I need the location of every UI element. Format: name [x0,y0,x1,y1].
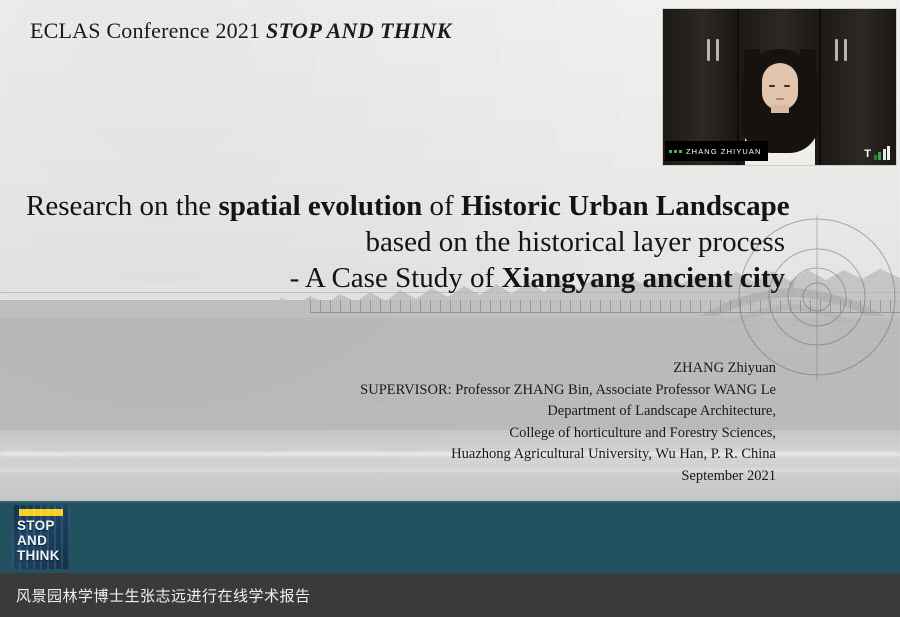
cabinet-handle-1 [707,39,710,61]
cabinet-gap-2 [819,9,821,165]
signal-bar-3 [883,149,886,160]
caption-bar: 风景园林学博士生张志远进行在线学术报告 [0,573,900,617]
audio-activity-dots-icon [669,150,682,153]
participant-name-text: ZHANG ZHIYUAN [686,147,762,156]
title-line-1-emphasis-2: Historic Urban Landscape [461,190,790,222]
cabinet-handle-4 [844,39,847,61]
cabinet-handle-3 [835,39,838,61]
logo-tile-text: STOP AND THINK [17,518,60,563]
caption-text: 风景园林学博士生张志远进行在线学术报告 [16,585,311,606]
presenter-eye-right [784,85,790,87]
author-name: ZHANG Zhiyuan [0,358,776,380]
cabinet-handle-2 [716,39,719,61]
banner-top-edge [0,501,900,503]
title-line-3-emphasis: Xiangyang ancient city [501,262,785,294]
title-line-1-c: of [422,190,461,222]
signal-letter: T [864,149,871,160]
conference-theme: STOP AND THINK [266,18,452,43]
title-line-3: - A Case Study of Xiangyang ancient city [0,260,785,296]
department-line: Department of Landscape Architecture, [0,401,776,423]
title-line-2: based on the historical layer process [0,224,785,260]
presenter-hair-front-left [744,49,760,111]
signal-bar-2 [878,152,881,160]
title-line-3-a: - A Case Study of [290,262,502,294]
participant-name-label: ZHANG ZHIYUAN [665,141,768,161]
cabinet-right [821,9,896,165]
presenter-eye-left [769,85,775,87]
signal-strength-icon: T [864,144,890,160]
slide-title: Research on the spatial evolution of His… [0,188,785,296]
presenter-hair-front-right [800,49,816,111]
slide-footer-banner: STOP AND THINK STOP AND THINK 2021 ECLAS… [0,501,900,573]
university-line: Huazhong Agricultural University, Wu Han… [0,444,776,466]
college-line: College of horticulture and Forestry Sci… [0,423,776,445]
signal-bar-4 [887,146,890,160]
supervisor-line: SUPERVISOR: Professor ZHANG Bin, Associa… [0,380,776,402]
title-line-1: Research on the spatial evolution of His… [0,188,785,224]
logo-tile-line-2: AND [17,533,60,548]
date-line: September 2021 [0,466,776,488]
video-participant-tile[interactable]: ZHANG ZHIYUAN T [662,8,897,166]
title-line-1-emphasis-1: spatial evolution [218,190,422,222]
screenshot-root: ECLAS Conference 2021 STOP AND THINK Res… [0,0,900,617]
conference-name: ECLAS Conference 2021 [30,18,260,43]
presenter-mouth [776,98,784,100]
logo-tile-line-1: STOP [17,518,60,533]
slide-header: ECLAS Conference 2021 STOP AND THINK [30,18,452,44]
stop-and-think-logo-tile: STOP AND THINK [12,505,70,569]
author-affiliation-block: ZHANG Zhiyuan SUPERVISOR: Professor ZHAN… [0,358,776,487]
title-line-1-a: Research on the [26,190,218,222]
signal-bar-1 [874,155,877,160]
presenter-face [762,63,798,110]
logo-tile-line-3: THINK [17,548,60,563]
